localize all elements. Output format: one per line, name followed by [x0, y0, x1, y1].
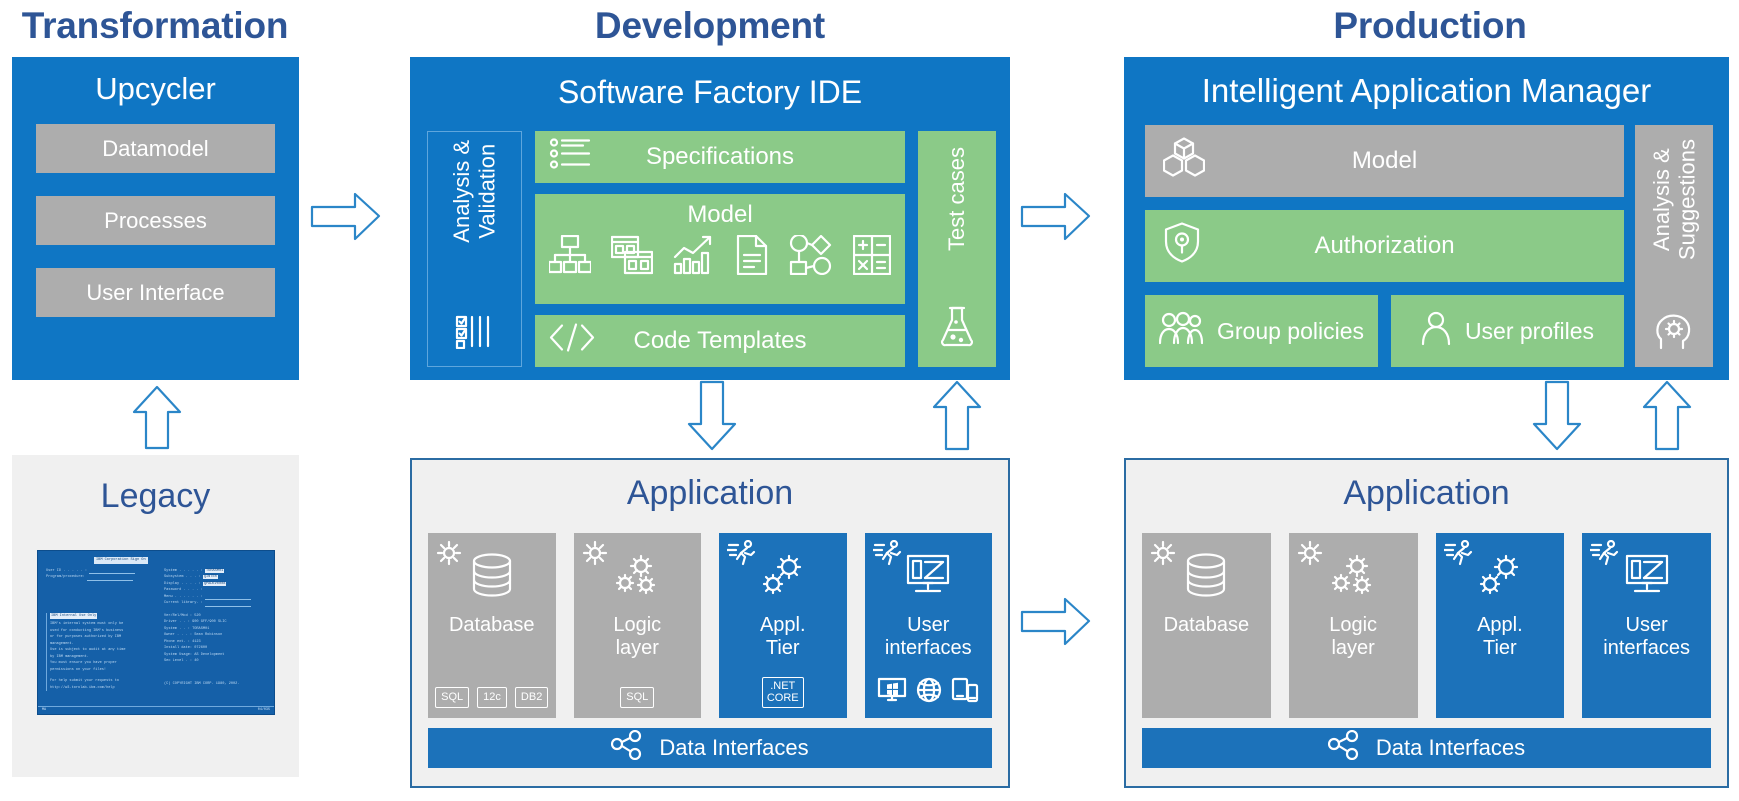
iam-model-row[interactable]: Model	[1145, 125, 1624, 197]
transformation-to-development-arrow	[310, 190, 382, 244]
tier-database-label: Database	[1164, 614, 1250, 637]
tier-label-line: User	[1626, 614, 1668, 636]
terminal-detail-value: TORASM01	[192, 627, 209, 631]
terminal-field-label: Menu . . . . . . :	[164, 595, 203, 599]
iam-title: Intelligent Application Manager	[1124, 73, 1729, 109]
upcycler-items: Datamodel Processes User Interface	[12, 124, 299, 317]
iam-group-policies-row[interactable]: Group policies	[1145, 295, 1378, 367]
analysis-validation-label: Analysis & Validation	[449, 140, 500, 243]
tier-user-interfaces[interactable]: User interfaces	[865, 533, 993, 718]
terminal-detail-value: 4123	[192, 640, 201, 644]
brain-gear-icon	[1655, 312, 1693, 355]
tier-label-line: Logic	[613, 614, 661, 636]
gears-icon	[611, 553, 663, 602]
analysis-suggestions-label: Analysis & Suggestions	[1649, 139, 1700, 260]
terminal-detail-label: System . . :	[164, 627, 190, 631]
terminal-detail-label: Phone ext. :	[164, 640, 190, 644]
terminal-detail-value: 40	[194, 659, 198, 663]
iam-body: Model Authorization	[1145, 125, 1713, 367]
terminal-detail-value: 520	[194, 614, 200, 618]
iam-model-label: Model	[1352, 147, 1417, 175]
flask-icon	[939, 306, 975, 353]
analysis-suggestions-line1: Analysis &	[1649, 148, 1674, 251]
legacy-terminal-screenshot: IBM Corporation Sign On User ID . . . . …	[37, 550, 275, 715]
terminal-field-label: Program/procedure:	[46, 575, 85, 579]
application-prod-title: Application	[1126, 474, 1727, 513]
terminal-detail-label: Sec Level . :	[164, 659, 192, 663]
terminal-sys-label: System . . . . . :	[164, 569, 203, 573]
screens-icon	[611, 235, 653, 282]
iam-authorization-label: Authorization	[1314, 232, 1454, 260]
gears-icon	[1474, 553, 1526, 602]
terminal-field-label: Current library. :	[164, 601, 203, 605]
column-title-transformation: Transformation	[10, 5, 300, 47]
legacy-to-upcycler-arrow	[130, 385, 184, 450]
shield-lock-icon	[1163, 222, 1201, 271]
ide-model-row[interactable]: Model	[535, 194, 905, 304]
analysis-validation-line1: Analysis &	[449, 140, 474, 243]
column-title-production: Production	[1120, 5, 1739, 47]
ide-to-application-arrow	[685, 380, 739, 452]
document-icon	[735, 235, 769, 282]
ide-specifications-label: Specifications	[646, 143, 794, 171]
monitor-icon	[904, 553, 952, 602]
tier-label-line: Tier	[1483, 637, 1517, 659]
tier-label-line: interfaces	[885, 637, 972, 659]
share-network-icon	[1328, 730, 1362, 766]
analysis-validation-line2: Validation	[475, 144, 500, 239]
terminal-field-label: User ID . . . . . :	[46, 569, 87, 573]
ide-green-column: Specifications Model	[535, 131, 905, 367]
cubes-model-icon	[1163, 138, 1205, 185]
gear-icon	[582, 540, 608, 571]
code-brackets-icon	[549, 323, 595, 360]
globe-web-icon	[915, 677, 943, 708]
badge-dotnet-core: .NETCORE	[762, 677, 804, 708]
terminal-sys-label: Subsystem . . . :	[164, 575, 201, 579]
badge-db2: DB2	[515, 687, 548, 708]
terminal-detail-label: Owner . . . :	[164, 633, 192, 637]
terminal-sys-label: Display . . . . :	[164, 582, 201, 586]
tier-logic-layer-label: Logic layer	[1329, 614, 1377, 660]
flow-diagram-icon	[789, 235, 833, 282]
analysis-validation-column[interactable]: Analysis & Validation	[427, 131, 522, 367]
iam-group-policies-label: Group policies	[1217, 318, 1364, 345]
terminal-copyright: (C) COPYRIGHT IBM CORP. 1980, 2002.	[164, 681, 266, 688]
terminal-notice-title: IBM Internal Use Only	[50, 613, 97, 620]
software-factory-ide-panel[interactable]: Software Factory IDE Analysis & Validati…	[410, 57, 1010, 380]
application-dev-title: Application	[412, 474, 1008, 513]
terminal-notice-line: http://w3.torolab.ibm.com/help	[50, 685, 164, 692]
ide-model-label: Model	[687, 201, 752, 229]
tier-appl-tier[interactable]: Appl. Tier	[1436, 533, 1565, 718]
application-to-testcases-arrow	[930, 380, 984, 452]
user-icon	[1421, 310, 1451, 352]
test-cases-column[interactable]: Test cases	[918, 131, 996, 367]
badge-sql: SQL	[435, 687, 469, 708]
terminal-field-label: Password . . . . :	[164, 588, 203, 592]
database-icon	[1182, 553, 1230, 602]
gears-icon	[757, 553, 809, 602]
tier-database-badges: SQL 12c DB2	[428, 687, 556, 708]
analysis-suggestions-column[interactable]: Analysis & Suggestions	[1635, 125, 1713, 367]
iam-split-row: Group policies User profiles	[1145, 295, 1624, 367]
dev-app-to-prod-app-arrow	[1020, 595, 1092, 649]
column-title-development: Development	[410, 5, 1010, 47]
tier-appl-tier-label: Appl. Tier	[760, 614, 806, 660]
mobile-devices-icon	[951, 677, 979, 708]
ide-body: Analysis & Validation	[427, 131, 996, 367]
terminal-status-bar: MA 04/035	[38, 706, 274, 714]
upcycler-title: Upcycler	[12, 72, 299, 106]
tier-user-interfaces[interactable]: User interfaces	[1582, 533, 1711, 718]
tier-database-label: Database	[449, 614, 535, 637]
iam-user-profiles-label: User profiles	[1465, 318, 1594, 345]
tier-appl-tier[interactable]: Appl. Tier .NETCORE	[719, 533, 847, 718]
iam-user-profiles-row[interactable]: User profiles	[1391, 295, 1624, 367]
tier-label-line: Database	[1164, 614, 1250, 636]
data-interfaces-bar-prod[interactable]: Data Interfaces	[1142, 728, 1711, 768]
ide-code-templates-row[interactable]: Code Templates	[535, 315, 905, 367]
org-chart-icon	[549, 235, 591, 282]
tier-logic-layer[interactable]: Logic layer SQL	[574, 533, 702, 718]
upcycler-item-processes[interactable]: Processes	[36, 196, 275, 245]
runner-icon	[1590, 540, 1620, 571]
terminal-detail-value: 072600	[194, 646, 207, 650]
tier-label-line: Appl.	[1477, 614, 1523, 636]
runner-icon	[727, 540, 757, 571]
intelligent-application-manager-panel[interactable]: Intelligent Application Manager	[1124, 57, 1729, 380]
list-icon	[549, 138, 591, 177]
terminal-detail-label: Ver/Rel/Mod :	[164, 614, 192, 618]
iam-to-application-arrow	[1530, 380, 1584, 452]
runner-icon	[1444, 540, 1474, 571]
terminal-status-left: MA	[42, 707, 46, 714]
tier-user-interfaces-label: User interfaces	[1603, 614, 1690, 660]
tier-label-line: Logic	[1329, 614, 1377, 636]
tier-appl-tier-label: Appl. Tier	[1477, 614, 1523, 660]
terminal-sys-value: QINTER	[203, 575, 218, 579]
application-to-iam-arrow	[1640, 380, 1694, 452]
application-box-development[interactable]: Application	[410, 458, 1010, 788]
ide-code-templates-label: Code Templates	[634, 327, 807, 355]
gear-icon	[1297, 540, 1323, 571]
application-dev-tiers: Database SQL 12c DB2	[428, 533, 992, 718]
analysis-suggestions-line2: Suggestions	[1674, 139, 1699, 260]
diagram-canvas: Transformation Development Production Up…	[0, 0, 1739, 801]
gear-icon	[436, 540, 462, 571]
bar-chart-icon	[673, 235, 715, 282]
tier-label-line: layer	[1331, 637, 1374, 659]
upcycler-item-user-interface[interactable]: User Interface	[36, 268, 275, 317]
gear-icon	[1150, 540, 1176, 571]
terminal-detail-label: System Usage:	[164, 653, 192, 657]
terminal-detail-value: 900 GFF/900 SLIC	[192, 620, 227, 624]
monitor-icon	[1623, 553, 1671, 602]
test-cases-label: Test cases	[944, 147, 969, 251]
windows-desktop-icon	[877, 677, 907, 708]
terminal-detail-value: Sean Robinson	[194, 633, 222, 637]
tier-label-line: Tier	[766, 637, 800, 659]
data-interfaces-bar-dev[interactable]: Data Interfaces	[428, 728, 992, 768]
data-interfaces-label-prod: Data Interfaces	[1376, 735, 1525, 761]
tier-logic-layer-badges: SQL	[574, 687, 702, 708]
upcycler-panel[interactable]: Upcycler Datamodel Processes User Interf…	[12, 57, 299, 380]
application-box-production[interactable]: Application	[1124, 458, 1729, 788]
tier-logic-layer[interactable]: Logic layer	[1289, 533, 1418, 718]
ide-title: Software Factory IDE	[410, 75, 1010, 110]
tier-appl-tier-badges: .NETCORE	[719, 677, 847, 708]
runner-icon	[873, 540, 903, 571]
iam-authorization-row[interactable]: Authorization	[1145, 210, 1624, 282]
application-prod-tiers: Database	[1142, 533, 1711, 718]
terminal-status-right: 04/035	[258, 707, 270, 714]
legacy-title: Legacy	[12, 477, 299, 516]
badge-12c: 12c	[477, 687, 507, 708]
development-to-production-arrow	[1020, 190, 1092, 244]
ide-model-icons	[549, 235, 891, 282]
tier-database[interactable]: Database SQL 12c DB2	[428, 533, 556, 718]
tier-label-line: interfaces	[1603, 637, 1690, 659]
iam-main-column: Model Authorization	[1145, 125, 1624, 367]
group-users-icon	[1159, 310, 1203, 352]
calculator-icon	[853, 235, 891, 282]
terminal-detail-label: Driver . . :	[164, 620, 190, 624]
tier-database[interactable]: Database	[1142, 533, 1271, 718]
database-icon	[468, 553, 516, 602]
legacy-panel[interactable]: Legacy IBM Corporation Sign On User ID .…	[12, 455, 299, 777]
badge-sql: SQL	[620, 687, 654, 708]
ide-specifications-row[interactable]: Specifications	[535, 131, 905, 183]
terminal-detail-label: Install date:	[164, 646, 192, 650]
terminal-detail-value: AS Development	[194, 653, 224, 657]
tier-label-line: layer	[616, 637, 659, 659]
checklist-icon	[455, 315, 495, 354]
tier-label-line: User	[907, 614, 949, 636]
terminal-sys-value: TORASM01	[205, 569, 224, 573]
terminal-sys-value: QPADEV0008	[203, 582, 227, 586]
tier-logic-layer-label: Logic layer	[613, 614, 661, 660]
tier-label-line: Appl.	[760, 614, 806, 636]
tier-user-interfaces-badges	[865, 677, 993, 708]
terminal-banner: IBM Corporation Sign On	[94, 557, 148, 564]
upcycler-item-datamodel[interactable]: Datamodel	[36, 124, 275, 173]
gears-icon	[1327, 553, 1379, 602]
tier-user-interfaces-label: User interfaces	[885, 614, 972, 660]
share-network-icon	[611, 730, 645, 766]
tier-label-line: Database	[449, 614, 535, 636]
data-interfaces-label-dev: Data Interfaces	[659, 735, 808, 761]
